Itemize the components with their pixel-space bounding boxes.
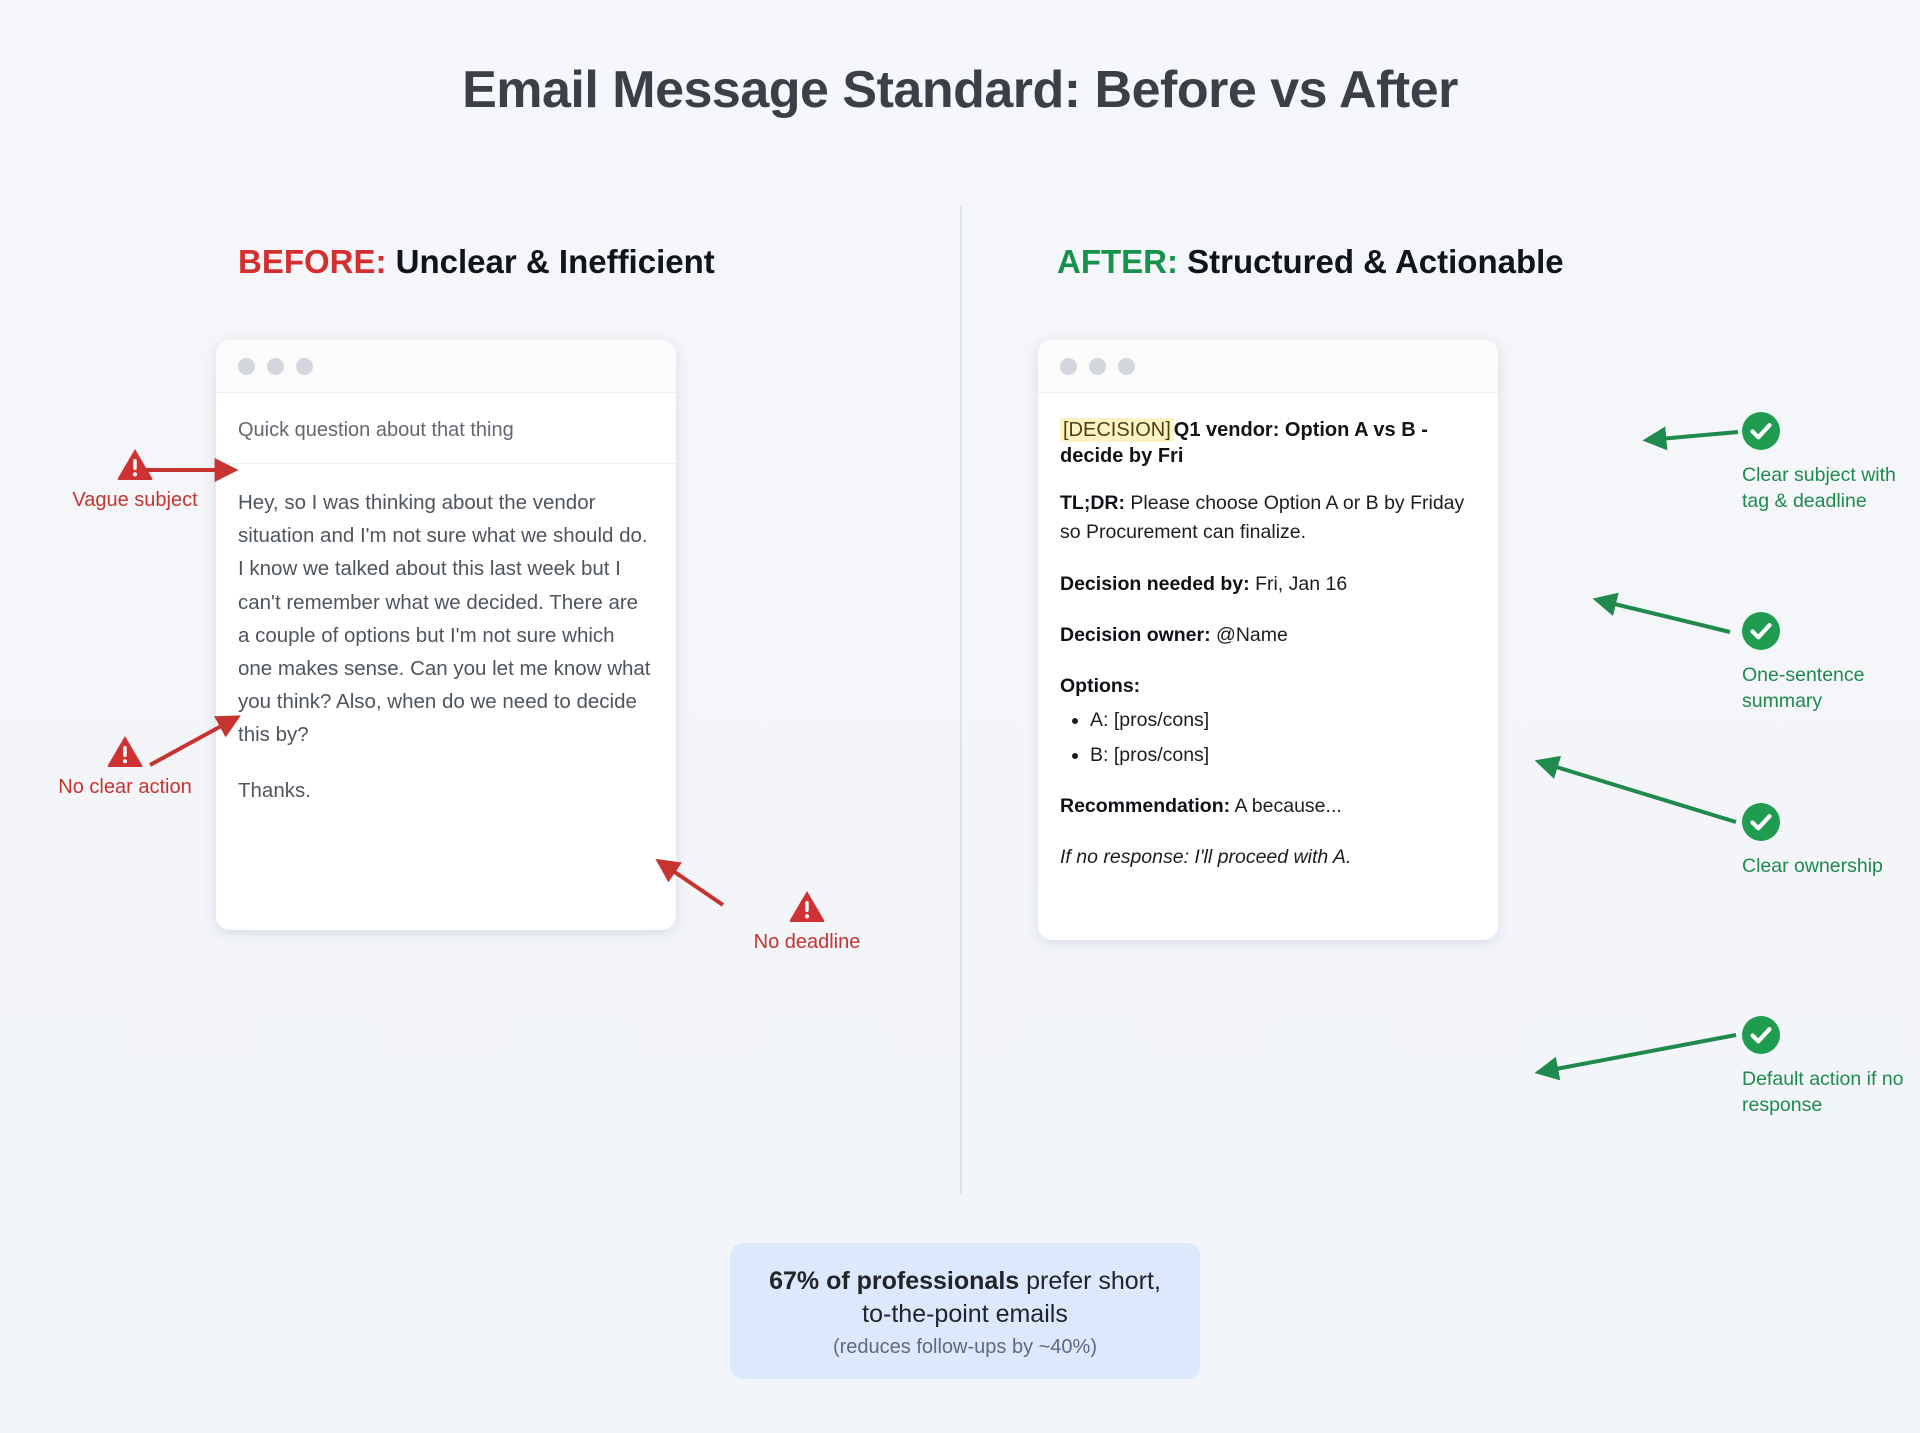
annotation-label: Default action if no response <box>1742 1067 1920 1119</box>
decision-tag-badge: [DECISION] <box>1060 418 1174 442</box>
before-email-subject: Quick question about that thing <box>216 393 676 464</box>
annotation-label: Clear subject with tag & deadline <box>1742 463 1920 515</box>
owner-label: Decision owner: <box>1060 624 1211 646</box>
warning-triangle-icon <box>117 448 153 480</box>
after-column-header: AFTER: Structured & Actionable <box>1057 243 1564 281</box>
check-circle-icon <box>1742 612 1780 650</box>
after-email-card: [DECISION]Q1 vendor: Option A vs B - dec… <box>1038 340 1498 940</box>
after-keyword: AFTER: <box>1057 243 1178 280</box>
window-dot-close-icon[interactable] <box>1060 358 1077 375</box>
tldr-label: TL;DR: <box>1060 492 1125 514</box>
options-list: A: [pros/cons] B: [pros/cons] <box>1090 706 1476 770</box>
annotation-label: No deadline <box>714 929 900 955</box>
annotation-clear-ownership: Clear ownership <box>1742 803 1920 880</box>
annotation-clear-subject: Clear subject with tag & deadline <box>1742 412 1920 515</box>
before-column-header: BEFORE: Unclear & Inefficient <box>238 243 715 281</box>
annotation-vague-subject: Vague subject <box>60 448 210 513</box>
stat-highlight: 67% of professionals <box>769 1267 1019 1295</box>
options-label: Options: <box>1060 675 1140 697</box>
annotation-no-deadline: No deadline <box>714 890 900 955</box>
recommendation-label: Recommendation: <box>1060 795 1230 817</box>
deadline-value: Fri, Jan 16 <box>1255 573 1347 595</box>
window-titlebar <box>216 340 676 393</box>
options-block: Options: A: [pros/cons] B: [pros/cons] <box>1060 672 1476 770</box>
stat-main-text: 67% of professionals prefer short, to-th… <box>752 1265 1178 1331</box>
before-subtitle: Unclear & Inefficient <box>396 243 715 280</box>
warning-triangle-icon <box>789 890 825 922</box>
window-dot-minimize-icon[interactable] <box>267 358 284 375</box>
window-dot-maximize-icon[interactable] <box>296 358 313 375</box>
annotation-default-action: Default action if no response <box>1742 1016 1920 1119</box>
after-email-subject: [DECISION]Q1 vendor: Option A vs B - dec… <box>1038 393 1498 475</box>
deadline-block: Decision needed by: Fri, Jan 16 <box>1060 570 1476 599</box>
annotation-label: Vague subject <box>60 487 210 513</box>
after-email-body: TL;DR: Please choose Option A or B by Fr… <box>1038 475 1498 872</box>
before-email-body: Hey, so I was thinking about the vendor … <box>216 464 676 807</box>
arrow-one-sentence-summary <box>1598 600 1730 632</box>
annotation-label: No clear action <box>50 774 200 800</box>
arrow-clear-ownership <box>1540 762 1736 822</box>
before-body-paragraph-1: Hey, so I was thinking about the vendor … <box>238 486 654 752</box>
deadline-label: Decision needed by: <box>1060 573 1250 595</box>
annotation-no-clear-action: No clear action <box>50 735 200 800</box>
list-item: B: [pros/cons] <box>1090 741 1476 770</box>
annotation-label: Clear ownership <box>1742 854 1920 880</box>
arrow-default-action <box>1540 1035 1736 1072</box>
list-item: A: [pros/cons] <box>1090 706 1476 735</box>
check-circle-icon <box>1742 412 1780 450</box>
window-titlebar <box>1038 340 1498 393</box>
tldr-block: TL;DR: Please choose Option A or B by Fr… <box>1060 489 1476 548</box>
before-email-card: Quick question about that thing Hey, so … <box>216 340 676 930</box>
owner-block: Decision owner: @Name <box>1060 621 1476 650</box>
infographic-page: Email Message Standard: Before vs After … <box>0 0 1920 1433</box>
arrow-clear-subject <box>1648 432 1738 440</box>
check-circle-icon <box>1742 1016 1780 1054</box>
recommendation-value: A because... <box>1234 795 1341 817</box>
owner-value: @Name <box>1216 624 1288 646</box>
window-dot-maximize-icon[interactable] <box>1118 358 1135 375</box>
annotation-one-sentence-summary: One-sentence summary <box>1742 612 1920 715</box>
warning-triangle-icon <box>107 735 143 767</box>
check-circle-icon <box>1742 803 1780 841</box>
after-subtitle: Structured & Actionable <box>1187 243 1564 280</box>
stat-subtext: (reduces follow-ups by ~40%) <box>752 1336 1178 1359</box>
annotation-label: One-sentence summary <box>1742 663 1920 715</box>
before-body-paragraph-2: Thanks. <box>238 774 654 807</box>
stat-callout-box: 67% of professionals prefer short, to-th… <box>730 1243 1200 1379</box>
page-title: Email Message Standard: Before vs After <box>0 60 1920 120</box>
before-keyword: BEFORE: <box>238 243 387 280</box>
recommendation-block: Recommendation: A because... <box>1060 792 1476 821</box>
window-dot-close-icon[interactable] <box>238 358 255 375</box>
center-divider <box>960 205 962 1195</box>
fallback-text: If no response: I'll proceed with A. <box>1060 843 1476 872</box>
window-dot-minimize-icon[interactable] <box>1089 358 1106 375</box>
